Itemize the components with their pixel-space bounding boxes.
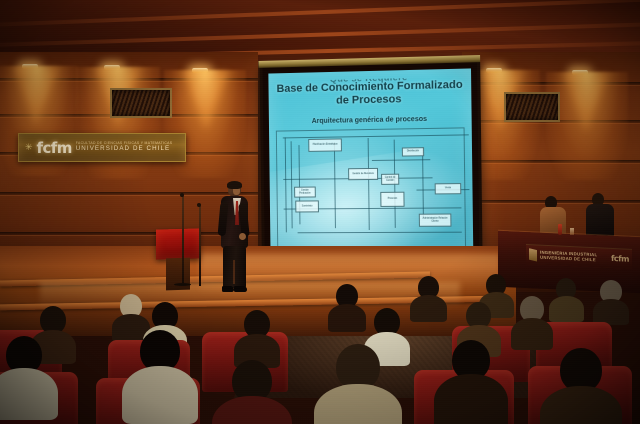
fcfm-logo-mark-icon (529, 248, 537, 261)
podium (156, 228, 200, 259)
panelist-right (586, 193, 614, 237)
audience-shoulders (511, 318, 553, 350)
table-banner: INGENIERIA INDUSTRIAL UNIVERSIDAD DE CHI… (526, 244, 632, 269)
audience-shoulders (212, 396, 292, 424)
diagram-box: Suministro (295, 200, 319, 212)
star-icon: ✳ (25, 143, 33, 152)
audience (0, 274, 640, 424)
microphone-stand (182, 196, 184, 284)
table-banner-text: INGENIERIA INDUSTRIAL UNIVERSIDAD DE CHI… (540, 250, 597, 262)
wall-sign-fcfm: ✳ fcfm FACULTAD DE CIENCIAS FISICAS Y MA… (18, 133, 186, 162)
audience-shoulders (0, 368, 58, 420)
audience-shoulders (410, 295, 447, 322)
panelist-left (540, 196, 566, 236)
projection-screen: Que se Requiere Base de Conocimiento For… (260, 59, 483, 275)
table-banner-logo: fcfm (611, 254, 629, 264)
diagram-box: Gestión Producción (294, 187, 316, 198)
diagram-connector (283, 134, 469, 138)
diagram-connector (291, 141, 293, 228)
wall-sign-line2: UNIVERSIDAD DE CHILE (76, 146, 173, 153)
slide-diagram: Planificación Estratégica Gestión de Rec… (276, 127, 466, 254)
diagram-box: Gestión de Recursos (348, 168, 378, 180)
wall-vent-right (504, 92, 560, 122)
diagram-box: Administración Relación Cliente (419, 213, 452, 226)
table-bottle (558, 224, 562, 235)
slide-heading: Base de Conocimiento Formalizado de Proc… (274, 79, 465, 109)
diagram-connector (285, 137, 287, 232)
microphone-head (197, 203, 201, 207)
diagram-connector (368, 138, 370, 230)
panelist-suit (586, 204, 614, 237)
diagram-box: Distribución (402, 147, 424, 156)
wall-sign-text: FACULTAD DE CIENCIAS FISICAS Y MATEMATIC… (76, 142, 173, 152)
diagram-connector (334, 143, 336, 229)
microphone-head (180, 193, 184, 197)
ceiling-beam (0, 0, 640, 28)
diagram-box: Procesos (380, 192, 404, 207)
diagram-connector (298, 232, 462, 233)
audience-shoulders (434, 374, 508, 424)
wall-groove (462, 160, 640, 163)
slide-subheading: Arquitectura genérica de procesos (275, 115, 466, 126)
wall-vent-left (110, 88, 172, 118)
audience-shoulders (328, 304, 366, 332)
slide-content: Que se Requiere Base de Conocimiento For… (268, 68, 473, 262)
audience-shoulders (122, 366, 198, 424)
light-cone (564, 74, 608, 132)
table-glass (570, 228, 574, 235)
light-cone (14, 68, 58, 126)
diagram-box: Planificación Estratégica (308, 138, 342, 151)
presenter-hair (227, 181, 242, 189)
light-cone (184, 72, 228, 130)
diagram-box: Control de Gestión (381, 174, 399, 185)
presenter-hand (239, 233, 246, 240)
fcfm-logo-mark: fcfm (37, 139, 72, 157)
audience-shoulders (314, 384, 402, 424)
auditorium-photo: ✳ fcfm FACULTAD DE CIENCIAS FISICAS Y MA… (0, 0, 640, 424)
diagram-box: Venta (435, 183, 462, 194)
audience-shoulders (549, 296, 584, 322)
table-banner-line2: UNIVERSIDAD DE CHILE (540, 255, 597, 262)
